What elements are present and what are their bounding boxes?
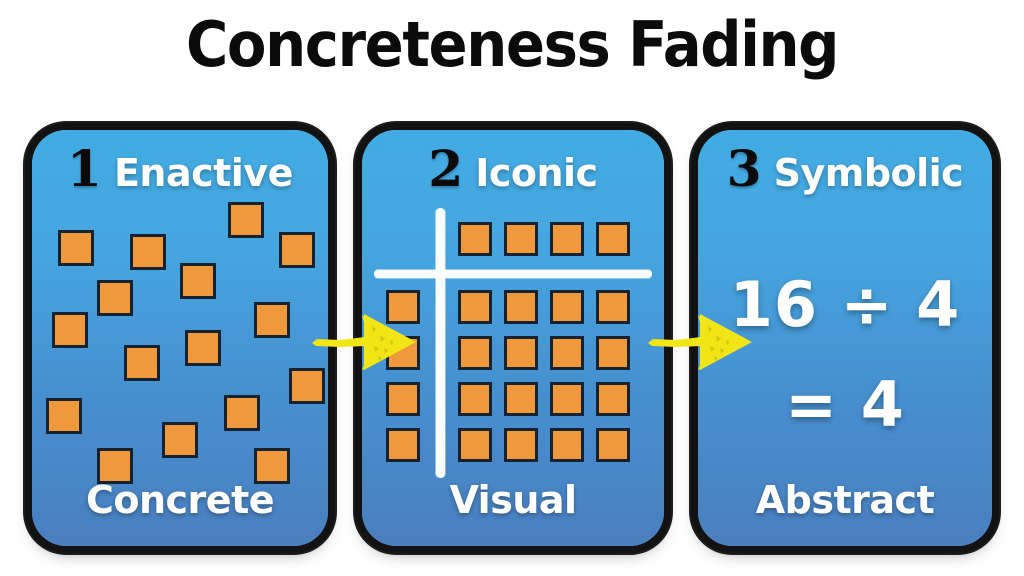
dividend-tile — [458, 428, 492, 462]
object-tile — [289, 368, 325, 404]
card-header: 3 Symbolic — [698, 144, 992, 194]
quotient-tile — [458, 222, 492, 256]
object-tile — [180, 263, 216, 299]
step-number: 2 — [428, 144, 463, 194]
stage-card-enactive[interactable]: 1 Enactive Concrete — [32, 130, 328, 546]
divisor-tile — [386, 336, 420, 370]
quotient-tile — [550, 222, 584, 256]
object-tile — [185, 330, 221, 366]
division-bracket-horizontal-line — [374, 270, 652, 278]
object-tile — [124, 345, 160, 381]
diagram-canvas: Concreteness Fading 1 Enactive Concrete … — [0, 0, 1024, 576]
object-tile — [224, 395, 260, 431]
dividend-tile — [504, 336, 538, 370]
card-caption: Abstract — [698, 478, 992, 522]
object-tile — [58, 230, 94, 266]
step-number: 1 — [67, 144, 102, 194]
divisor-tile — [386, 382, 420, 416]
dividend-tile — [596, 336, 630, 370]
object-tile — [46, 398, 82, 434]
dividend-tile — [596, 428, 630, 462]
card-caption: Concrete — [32, 478, 328, 522]
dividend-tile — [504, 290, 538, 324]
object-tile — [254, 302, 290, 338]
dividend-tile — [550, 336, 584, 370]
dividend-tile — [504, 428, 538, 462]
divisor-tile — [386, 290, 420, 324]
card-caption: Visual — [362, 478, 664, 522]
equation-line-1: 16 ÷ 4 — [698, 268, 992, 341]
dividend-tile — [550, 428, 584, 462]
step-label: Enactive — [114, 154, 293, 192]
object-tile — [162, 422, 198, 458]
object-tile — [228, 202, 264, 238]
dividend-tile — [596, 290, 630, 324]
dividend-tile — [596, 382, 630, 416]
card-header: 2 Iconic — [362, 144, 664, 194]
page-title: Concreteness Fading — [36, 14, 988, 76]
object-tile — [52, 312, 88, 348]
step-label: Symbolic — [774, 154, 964, 192]
stage-card-iconic[interactable]: 2 Iconic Visual — [362, 130, 664, 546]
division-bracket-vertical-line — [436, 208, 445, 478]
dividend-tile — [458, 290, 492, 324]
step-number: 3 — [727, 144, 762, 194]
divisor-tile — [386, 428, 420, 462]
step-label: Iconic — [475, 154, 597, 192]
dividend-tile — [504, 382, 538, 416]
object-tile — [97, 280, 133, 316]
card-header: 1 Enactive — [32, 144, 328, 194]
equation-line-2: = 4 — [698, 368, 992, 441]
quotient-tile — [596, 222, 630, 256]
stage-card-symbolic[interactable]: 3 Symbolic 16 ÷ 4 = 4 Abstract — [698, 130, 992, 546]
dividend-tile — [458, 382, 492, 416]
dividend-tile — [550, 290, 584, 324]
object-tile — [279, 232, 315, 268]
dividend-tile — [458, 336, 492, 370]
quotient-tile — [504, 222, 538, 256]
object-tile — [130, 234, 166, 270]
dividend-tile — [550, 382, 584, 416]
